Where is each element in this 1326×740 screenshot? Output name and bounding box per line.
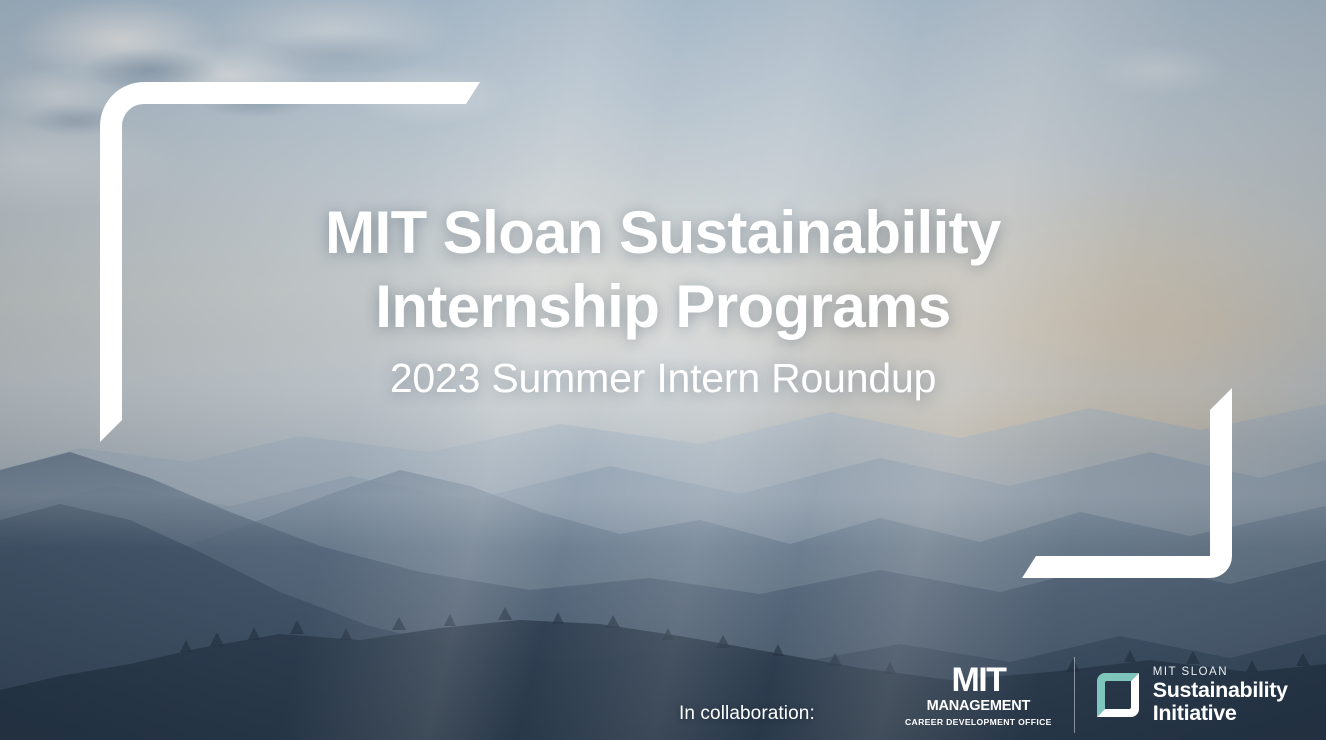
slide-title-line-2: Internship Programs	[0, 270, 1326, 344]
sustainability-initiative-mark-icon	[1095, 671, 1141, 719]
mit-cdo-office-label: CAREER DEVELOPMENT OFFICE	[905, 716, 1052, 728]
si-name-line-2: Initiative	[1153, 702, 1288, 725]
collaboration-label: In collaboration:	[679, 703, 815, 725]
logo-bar: MIT MANAGEMENT CAREER DEVELOPMENT OFFICE…	[905, 655, 1288, 735]
logo-divider	[1074, 657, 1075, 733]
presentation-slide: MIT Sloan Sustainability Internship Prog…	[0, 0, 1326, 740]
mit-wordmark: MIT	[952, 663, 1006, 697]
si-name-line-1: Sustainability	[1153, 679, 1288, 702]
sustainability-initiative-text: MIT SLOAN Sustainability Initiative	[1153, 665, 1288, 725]
logo-sustainability-initiative: MIT SLOAN Sustainability Initiative	[1095, 665, 1288, 725]
slide-title-line-1: MIT Sloan Sustainability	[0, 196, 1326, 270]
title-block: MIT Sloan Sustainability Internship Prog…	[0, 196, 1326, 406]
si-eyebrow-label: MIT SLOAN	[1153, 665, 1288, 679]
logo-mit-management-cdo: MIT MANAGEMENT CAREER DEVELOPMENT OFFICE	[905, 663, 1074, 728]
corner-bracket-bottom-right	[1022, 388, 1232, 578]
slide-subtitle: 2023 Summer Intern Roundup	[0, 350, 1326, 406]
mit-management-unit-label: MANAGEMENT	[927, 698, 1031, 715]
